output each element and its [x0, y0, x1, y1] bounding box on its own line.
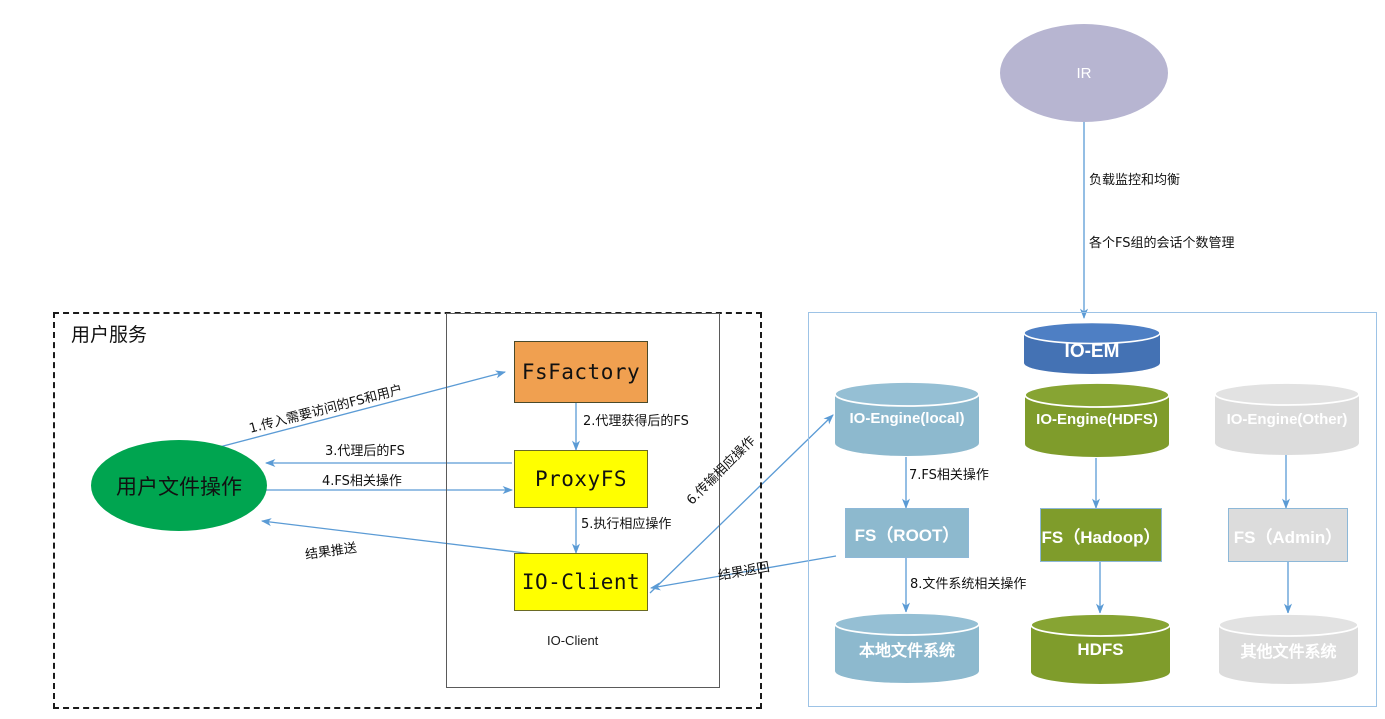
local-filesystem-label: 本地文件系统 — [833, 634, 981, 664]
other-filesystem-label: 其他文件系统 — [1217, 635, 1360, 665]
ir-label: IR — [1077, 65, 1092, 82]
edge-label-ir-load: 负载监控和均衡 — [1089, 169, 1180, 188]
fs-admin-box[interactable]: FS（Admin） — [1228, 508, 1348, 562]
edge-label-step7: 7.FS相关操作 — [909, 464, 989, 483]
fsfactory-label: FsFactory — [522, 360, 640, 384]
io-em-cylinder[interactable]: IO-EM — [1022, 322, 1162, 374]
proxyfs-label: ProxyFS — [535, 467, 627, 491]
ioclient-label: IO-Client — [522, 570, 640, 594]
io-engine-local-cylinder[interactable]: IO-Engine(local) — [833, 381, 981, 457]
io-engine-local-label: IO-Engine(local) — [833, 403, 981, 433]
io-em-label: IO-EM — [1022, 338, 1162, 366]
io-engine-hdfs-label: IO-Engine(HDFS) — [1023, 404, 1171, 434]
fs-hadoop-label: FS（Hadoop） — [1042, 523, 1161, 548]
io-engine-hdfs-cylinder[interactable]: IO-Engine(HDFS) — [1023, 382, 1171, 458]
fs-root-box[interactable]: FS（ROOT） — [845, 508, 969, 558]
other-filesystem-cylinder[interactable]: 其他文件系统 — [1217, 613, 1360, 685]
fs-admin-label: FS（Admin） — [1234, 523, 1343, 548]
edge-label-step3: 3.代理后的FS — [325, 440, 405, 459]
fsfactory-box[interactable]: FsFactory — [514, 341, 648, 403]
fs-root-label: FS（ROOT） — [855, 521, 960, 546]
ir-ellipse[interactable]: IR — [1000, 24, 1168, 122]
local-filesystem-cylinder[interactable]: 本地文件系统 — [833, 612, 981, 684]
edge-label-step2: 2.代理获得后的FS — [583, 410, 689, 429]
io-engine-other-label: IO-Engine(Other) — [1213, 404, 1361, 434]
diagram-canvas: 用户服务 IO-Client 用户文件操作 FsFactory ProxyFS … — [0, 0, 1385, 719]
edge-label-step8: 8.文件系统相关操作 — [910, 573, 1026, 592]
user-service-title: 用户服务 — [71, 320, 147, 347]
edge-label-ir-session: 各个FS组的会话个数管理 — [1089, 232, 1235, 251]
fs-hadoop-box[interactable]: FS（Hadoop） — [1040, 508, 1162, 562]
ioclient-box[interactable]: IO-Client — [514, 553, 648, 611]
edge-label-step5: 5.执行相应操作 — [581, 513, 671, 532]
hdfs-cylinder[interactable]: HDFS — [1029, 613, 1172, 685]
edge-label-step4: 4.FS相关操作 — [322, 470, 402, 489]
io-engine-other-cylinder[interactable]: IO-Engine(Other) — [1213, 382, 1361, 456]
proxyfs-box[interactable]: ProxyFS — [514, 450, 648, 508]
user-file-operation-ellipse[interactable]: 用户文件操作 — [91, 440, 267, 531]
io-client-container-caption: IO-Client — [547, 633, 598, 648]
hdfs-label: HDFS — [1029, 635, 1172, 665]
user-file-operation-label: 用户文件操作 — [116, 471, 242, 501]
